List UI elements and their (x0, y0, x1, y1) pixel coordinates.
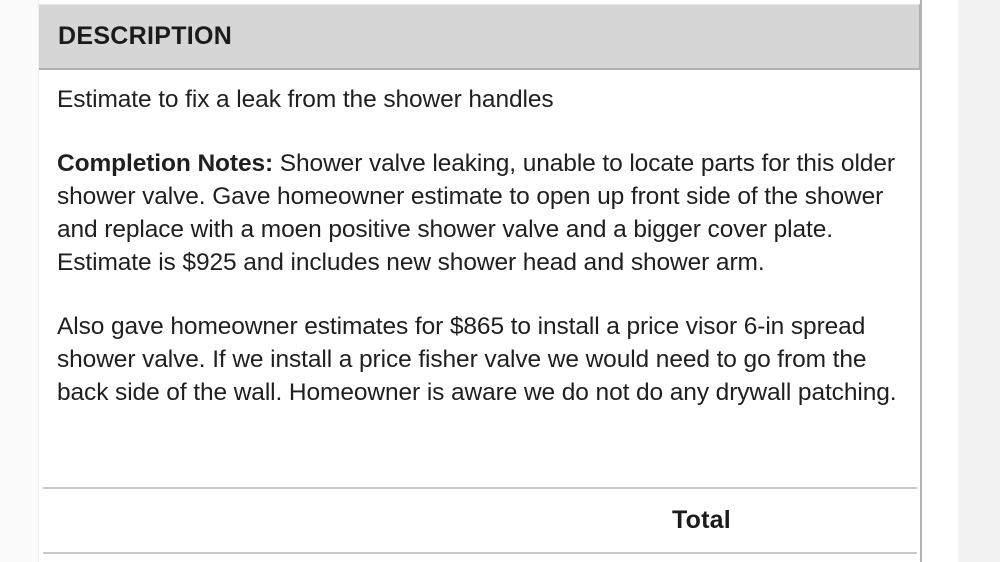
completion-notes-paragraph: Completion Notes: Shower valve leaking, … (57, 147, 902, 279)
total-row-bottom-divider (43, 552, 917, 554)
description-cell: Estimate to fix a leak from the shower h… (39, 70, 920, 409)
left-gutter (0, 0, 38, 562)
page-canvas: DESCRIPTION Estimate to fix a leak from … (0, 0, 1000, 562)
description-column-header: DESCRIPTION (39, 22, 232, 51)
table-header-row: DESCRIPTION (39, 4, 920, 70)
additional-notes-paragraph: Also gave homeowner estimates for $865 t… (57, 310, 902, 409)
total-row: Total (43, 489, 917, 552)
right-gutter (958, 0, 1000, 562)
total-label: Total (672, 506, 731, 535)
summary-line: Estimate to fix a leak from the shower h… (57, 83, 902, 116)
completion-notes-label: Completion Notes: (57, 150, 273, 177)
description-table-card: DESCRIPTION Estimate to fix a leak from … (38, 0, 922, 562)
